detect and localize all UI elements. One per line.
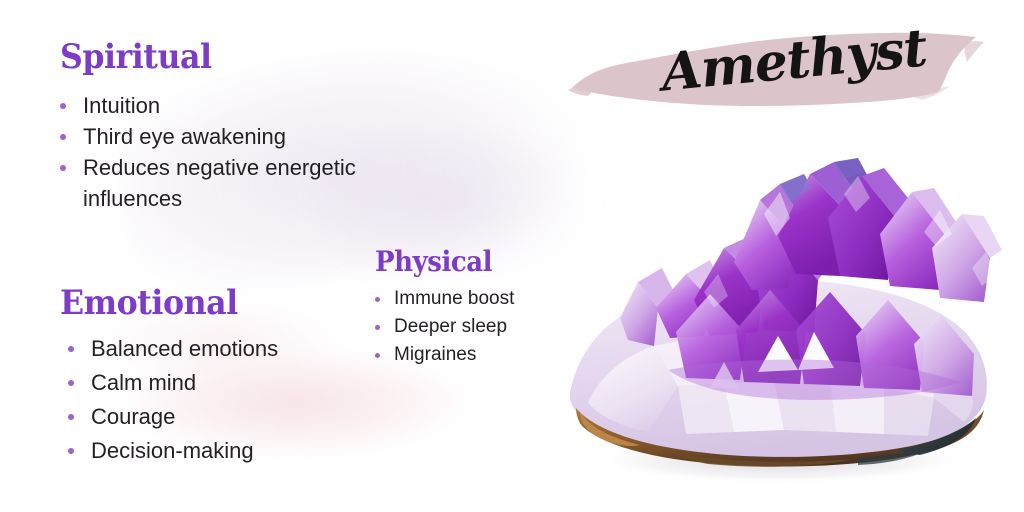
bullet-dot-icon: [68, 380, 74, 386]
list-item-label: Courage: [91, 400, 390, 434]
list-item: Reduces negative energetic influences: [60, 152, 460, 214]
list-item-label: Calm mind: [91, 366, 390, 400]
list-item: Decision-making: [68, 434, 390, 468]
section-heading-emotional: Emotional: [60, 286, 367, 320]
bullet-dot-icon: [375, 297, 380, 302]
list-item-label: Third eye awakening: [83, 121, 460, 152]
list-item-label: Decision-making: [91, 434, 390, 468]
title-banner: Amethyst: [566, 28, 986, 114]
section-emotional: Emotional Balanced emotions Calm mind Co…: [60, 286, 390, 468]
bullet-dot-icon: [60, 134, 66, 140]
amethyst-crystal-image: [528, 140, 1024, 512]
bullet-dot-icon: [375, 325, 380, 330]
bullet-dot-icon: [60, 103, 66, 109]
list-item: Courage: [68, 400, 390, 434]
section-spiritual: Spiritual Intuition Third eye awakening …: [60, 40, 460, 214]
amethyst-crystal-svg: [528, 140, 1024, 512]
list-item: Third eye awakening: [60, 121, 460, 152]
list-emotional: Balanced emotions Calm mind Courage Deci…: [68, 332, 390, 468]
bullet-dot-icon: [68, 414, 74, 420]
bullet-dot-icon: [68, 346, 74, 352]
amethyst-infographic-card: Spiritual Intuition Third eye awakening …: [0, 0, 1024, 512]
bullet-dot-icon: [68, 448, 74, 454]
list-item-label: Intuition: [83, 90, 460, 121]
bullet-dot-icon: [60, 165, 66, 171]
list-item-label: Reduces negative energetic influences: [83, 152, 460, 214]
section-heading-spiritual: Spiritual: [60, 40, 432, 74]
list-item-label: Balanced emotions: [91, 332, 390, 366]
list-item: Calm mind: [68, 366, 390, 400]
list-item: Balanced emotions: [68, 332, 390, 366]
list-item: Intuition: [60, 90, 460, 121]
bullet-dot-icon: [375, 353, 380, 358]
list-spiritual: Intuition Third eye awakening Reduces ne…: [60, 90, 460, 214]
